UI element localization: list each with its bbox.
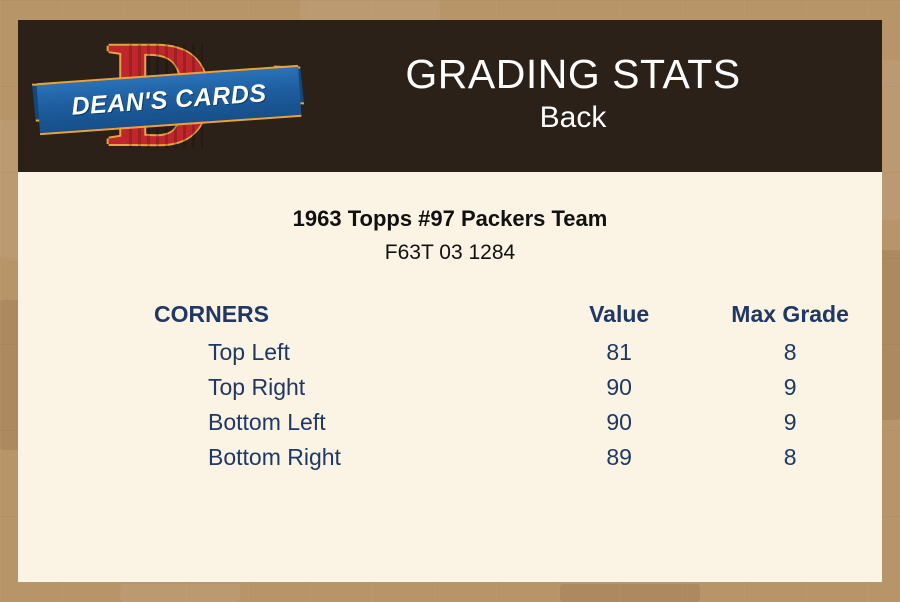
logo-ribbon: DEAN'S CARDS (37, 65, 302, 135)
deans-cards-logo: D DEAN'S CARDS (34, 26, 304, 166)
row-label: Bottom Left (18, 405, 540, 440)
table-header: CORNERS Value Max Grade (18, 301, 882, 335)
table-row: Top Right 90 9 (18, 370, 882, 405)
grading-stats-table: CORNERS Value Max Grade Top Left 81 8 To… (18, 301, 882, 475)
table-header-row: CORNERS Value Max Grade (18, 301, 882, 335)
card-body: 1963 Topps #97 Packers Team F63T 03 1284… (18, 206, 882, 475)
page-background: D DEAN'S CARDS GRADING STATS Back 1963 T… (0, 0, 900, 602)
page-subtitle: Back (304, 98, 842, 139)
row-max-grade: 9 (698, 370, 882, 405)
row-label: Bottom Right (18, 440, 540, 475)
table-row: Bottom Right 89 8 (18, 440, 882, 475)
row-value: 89 (540, 440, 698, 475)
logo-wordmark: DEAN'S CARDS (71, 79, 268, 122)
row-value: 81 (540, 335, 698, 370)
column-header-value: Value (540, 301, 698, 335)
table-row: Bottom Left 90 9 (18, 405, 882, 440)
column-header-section: CORNERS (18, 301, 540, 335)
page-title: GRADING STATS (304, 53, 842, 96)
row-max-grade: 9 (698, 405, 882, 440)
card-description: 1963 Topps #97 Packers Team (18, 206, 882, 232)
row-value: 90 (540, 405, 698, 440)
row-max-grade: 8 (698, 440, 882, 475)
row-max-grade: 8 (698, 335, 882, 370)
row-label: Top Left (18, 335, 540, 370)
row-label: Top Right (18, 370, 540, 405)
background-card-blotch (560, 584, 700, 602)
table-row: Top Left 81 8 (18, 335, 882, 370)
background-card-blotch (120, 584, 240, 602)
card-header: D DEAN'S CARDS GRADING STATS Back (18, 20, 882, 172)
grading-stats-card: D DEAN'S CARDS GRADING STATS Back 1963 T… (18, 20, 882, 582)
header-titles: GRADING STATS Back (304, 53, 882, 139)
row-value: 90 (540, 370, 698, 405)
table-body: Top Left 81 8 Top Right 90 9 Bottom Left… (18, 335, 882, 475)
column-header-max-grade: Max Grade (698, 301, 882, 335)
card-code: F63T 03 1284 (18, 241, 882, 265)
background-card-blotch (300, 0, 440, 20)
